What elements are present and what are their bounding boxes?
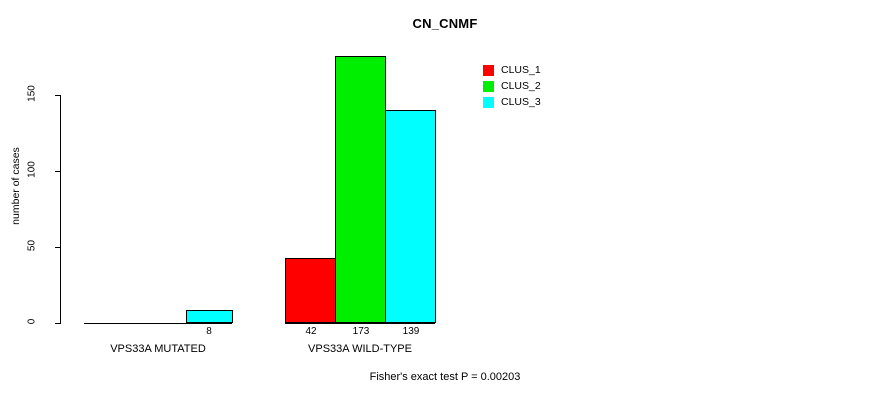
group-label-wildtype: VPS33A WILD-TYPE	[230, 343, 490, 355]
bar-value-mutated-clus3: 8	[181, 326, 237, 337]
y-tick-label-0: 0	[27, 302, 38, 342]
bar-mutated-clus3	[186, 310, 233, 323]
legend-label-clus2: CLUS_2	[501, 81, 541, 92]
y-tick-label-150: 150	[27, 74, 38, 114]
y-tick-100	[55, 171, 61, 172]
y-tick-label-50: 50	[27, 226, 38, 266]
bar-wildtype-clus2	[335, 56, 386, 323]
legend-swatch-icon-clus2	[483, 81, 494, 92]
legend-item-clus1: CLUS_1	[483, 62, 541, 78]
legend-item-clus3: CLUS_3	[483, 94, 541, 110]
chart-legend: CLUS_1 CLUS_2 CLUS_3	[483, 62, 541, 110]
y-tick-50	[55, 247, 61, 248]
legend-label-clus3: CLUS_3	[501, 97, 541, 108]
legend-swatch-icon-clus3	[483, 97, 494, 108]
y-axis-label: number of cases	[10, 126, 22, 246]
legend-label-clus1: CLUS_1	[501, 65, 541, 76]
bar-value-wildtype-clus2: 173	[333, 326, 389, 337]
baseline-group-mutated	[84, 323, 232, 324]
bar-wildtype-clus1	[285, 258, 336, 323]
y-axis-line	[60, 95, 61, 323]
bar-value-wildtype-clus1: 42	[283, 326, 339, 337]
y-tick-0	[55, 323, 61, 324]
chart-canvas: CN_CNMF number of cases 0 50 100 150 8 4…	[0, 0, 890, 400]
bar-wildtype-clus3	[385, 110, 436, 323]
statistical-annotation: Fisher's exact test P = 0.00203	[0, 371, 890, 383]
chart-title: CN_CNMF	[0, 16, 890, 31]
bar-value-wildtype-clus3: 139	[383, 326, 439, 337]
legend-item-clus2: CLUS_2	[483, 78, 541, 94]
baseline-group-wildtype	[285, 323, 435, 324]
y-tick-label-100: 100	[27, 150, 38, 190]
legend-swatch-icon-clus1	[483, 65, 494, 76]
y-tick-150	[55, 95, 61, 96]
